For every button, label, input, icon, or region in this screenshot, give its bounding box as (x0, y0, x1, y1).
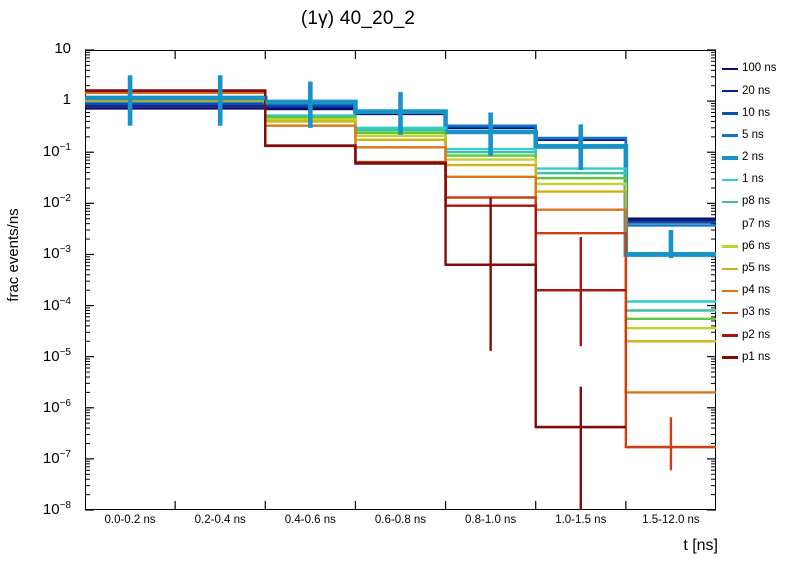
legend-item-label: p1 ns (742, 352, 770, 364)
x-axis-tick-label: 0.6-0.8 ns (355, 514, 445, 526)
y-axis-tick-label: 10−4 (0, 296, 78, 314)
legend-swatch-icon (722, 268, 738, 270)
legend-item-label: p3 ns (742, 307, 770, 319)
plot-graphics (0, 0, 796, 572)
legend-item-p1-ns[interactable]: p1 ns (722, 346, 796, 368)
legend-item-100-ns[interactable]: 100 ns (722, 58, 796, 80)
legend-swatch-icon (722, 68, 738, 70)
legend-swatch-icon (722, 356, 738, 358)
legend-swatch-icon (722, 223, 738, 225)
x-axis-tick-label: 0.4-0.6 ns (265, 514, 355, 526)
y-axis-tick-label: 1 (0, 91, 78, 108)
legend-swatch-icon (722, 90, 738, 92)
legend-item-20-ns[interactable]: 20 ns (722, 80, 796, 102)
y-axis-tick-label: 10−2 (0, 193, 78, 211)
legend-item-p2-ns[interactable]: p2 ns (722, 324, 796, 346)
x-axis-tick-label: 0.8-1.0 ns (446, 514, 536, 526)
legend-swatch-icon (722, 112, 738, 114)
legend-item-p5-ns[interactable]: p5 ns (722, 258, 796, 280)
legend-item-1-ns[interactable]: 1 ns (722, 169, 796, 191)
legend-item-label: p7 ns (742, 219, 770, 231)
legend[interactable]: 100 ns20 ns10 ns5 ns2 ns1 nsp8 nsp7 nsp6… (722, 58, 796, 369)
legend-swatch-icon (722, 134, 738, 136)
legend-item-p8-ns[interactable]: p8 ns (722, 191, 796, 213)
y-axis-tick-label: 10 (0, 40, 78, 57)
legend-item-label: 1 ns (742, 174, 764, 186)
legend-swatch-icon (722, 156, 738, 161)
x-axis-tick-label: 0.0-0.2 ns (85, 514, 175, 526)
legend-swatch-icon (722, 201, 738, 203)
legend-item-2-ns[interactable]: 2 ns (722, 147, 796, 169)
x-axis-tick-label: 0.2-0.4 ns (175, 514, 265, 526)
legend-item-label: 20 ns (742, 86, 770, 98)
legend-item-p7-ns[interactable]: p7 ns (722, 213, 796, 235)
y-axis-tick-label: 10−8 (0, 500, 78, 518)
legend-swatch-icon (722, 179, 738, 181)
legend-item-label: 2 ns (742, 152, 764, 164)
x-axis-tick-label: 1.5-12.0 ns (626, 514, 716, 526)
legend-item-label: p5 ns (742, 263, 770, 275)
x-axis-tick-label: 1.0-1.5 ns (536, 514, 626, 526)
legend-swatch-icon (722, 312, 738, 314)
y-axis-tick-label: 10−1 (0, 142, 78, 160)
legend-item-label: 10 ns (742, 108, 770, 120)
legend-swatch-icon (722, 245, 738, 247)
y-axis-tick-label: 10−3 (0, 244, 78, 262)
legend-swatch-icon (722, 290, 738, 292)
series-layer (85, 90, 716, 447)
plot-canvas: (1γ) 40_20_2 frac events/ns 10110−110−21… (0, 0, 796, 572)
y-axis-tick-label: 10−6 (0, 398, 78, 416)
y-axis-tick-label: 10−7 (0, 449, 78, 467)
legend-item-5-ns[interactable]: 5 ns (722, 125, 796, 147)
legend-item-p3-ns[interactable]: p3 ns (722, 302, 796, 324)
legend-item-label: 5 ns (742, 130, 764, 142)
y-axis-tick-label: 10−5 (0, 347, 78, 365)
legend-item-p4-ns[interactable]: p4 ns (722, 280, 796, 302)
legend-item-label: 100 ns (742, 63, 777, 75)
legend-item-10-ns[interactable]: 10 ns (722, 102, 796, 124)
legend-item-p6-ns[interactable]: p6 ns (722, 236, 796, 258)
legend-item-label: p2 ns (742, 330, 770, 342)
legend-item-label: p6 ns (742, 241, 770, 253)
legend-item-label: p8 ns (742, 196, 770, 208)
legend-swatch-icon (722, 334, 738, 336)
legend-item-label: p4 ns (742, 285, 770, 297)
x-axis-title: t [ns] (683, 537, 718, 555)
